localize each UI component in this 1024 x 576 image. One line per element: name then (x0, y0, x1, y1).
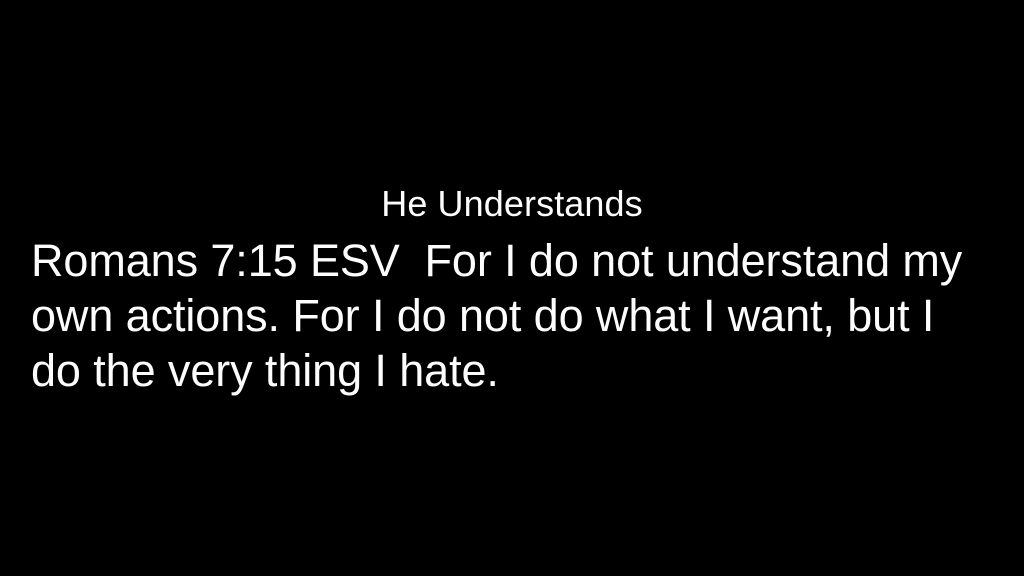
presentation-slide: He Understands Romans 7:15 ESV For I do … (0, 0, 1024, 576)
scripture-line: Romans 7:15 ESV For I do not understand … (31, 233, 993, 288)
slide-title: He Understands (0, 182, 1024, 226)
scripture-text-block: Romans 7:15 ESV For I do not understand … (31, 233, 993, 398)
scripture-line: do the very thing I hate. (31, 343, 993, 398)
scripture-line: own actions. For I do not do what I want… (31, 288, 993, 343)
